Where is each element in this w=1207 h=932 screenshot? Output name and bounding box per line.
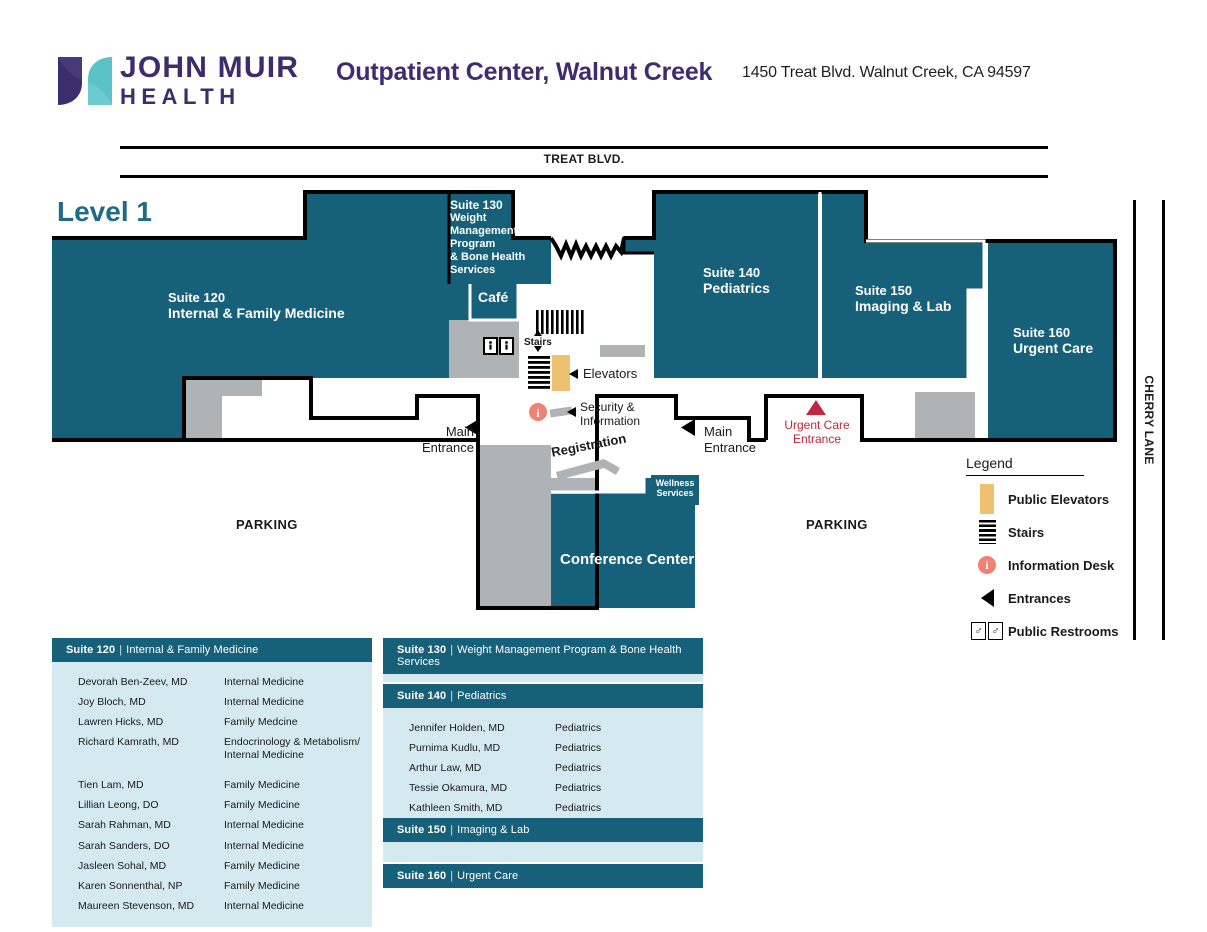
entrances-icon (966, 589, 1008, 607)
page-header: JOHN MUIR HEALTH Outpatient Center, Waln… (0, 0, 1207, 130)
suite-140-map-label: Suite 140 Pediatrics (703, 265, 770, 297)
legend-label-entrances: Entrances (1008, 591, 1071, 606)
suite-140-number: Suite 140 (703, 265, 770, 280)
brand-wordmark: JOHN MUIR HEALTH (120, 52, 299, 110)
provider-specialty: Pediatrics (555, 782, 703, 795)
provider-specialty: Internal Medicine (224, 819, 372, 832)
provider-specialty: Internal Medicine (224, 676, 372, 689)
brand-line-2: HEALTH (120, 84, 299, 110)
main-entrance-right-label: MainEntrance (704, 424, 766, 455)
suite-130-number: Suite 130 (450, 198, 532, 212)
directory-row: Jasleen Sohal, MDFamily Medicine (52, 856, 372, 876)
directory-suite-number: Suite 130 (397, 644, 446, 656)
directory-header-suite-120: Suite 120|Internal & Family Medicine (52, 638, 372, 662)
parking-left-label: PARKING (236, 517, 298, 532)
directory-department: Imaging & Lab (457, 824, 529, 836)
street-treat-blvd: TREAT BLVD. (120, 146, 1048, 178)
brand-line-1: JOHN MUIR (120, 52, 299, 84)
cafe-map-label: Café (478, 289, 508, 306)
provider-specialty: Family Medicine (224, 880, 372, 893)
provider-name: Jasleen Sohal, MD (78, 860, 224, 873)
provider-name: Lillian Leong, DO (78, 799, 224, 812)
provider-specialty: Pediatrics (555, 742, 703, 755)
directory-panel-suite-150: Suite 150|Imaging & Lab (383, 818, 703, 862)
provider-name: Tessie Okamura, MD (409, 782, 555, 795)
directory-header-suite-140: Suite 140|Pediatrics (383, 684, 703, 708)
registration-counter (556, 459, 620, 480)
directory-body-suite-150 (383, 842, 703, 862)
directory-panel-suite-120: Suite 120|Internal & Family Medicine Dev… (52, 638, 372, 927)
suite-130-strip-shape (449, 284, 470, 320)
provider-name: Sarah Sanders, DO (78, 840, 224, 853)
provider-specialty: Internal Medicine (224, 900, 372, 913)
directory-header-suite-160: Suite 160|Urgent Care (383, 864, 703, 888)
provider-name: Arthur Law, MD (409, 762, 555, 775)
suite-160-number: Suite 160 (1013, 325, 1093, 340)
security-pointer-icon (567, 407, 576, 417)
directory-separator: | (446, 690, 457, 702)
directory-row: Tien Lam, MDFamily Medicine (52, 776, 372, 796)
parking-right-label: PARKING (806, 517, 868, 532)
suite-150-name: Imaging & Lab (855, 298, 951, 315)
public-elevators-icon (966, 484, 1008, 514)
directory-panel-suite-160: Suite 160|Urgent Care (383, 864, 703, 886)
john-muir-health-logo-icon (56, 55, 114, 107)
provider-name: Jennifer Holden, MD (409, 722, 555, 735)
directory-header-suite-130: Suite 130|Weight Management Program & Bo… (383, 638, 703, 674)
legend-item-information-desk: i Information Desk (966, 550, 1156, 580)
directory-row: Sarah Rahman, MDInternal Medicine (52, 816, 372, 836)
facility-address: 1450 Treat Blvd. Walnut Creek, CA 94597 (742, 64, 1031, 82)
page-title: Outpatient Center, Walnut Creek (336, 58, 712, 87)
urgent-care-entrance-icon (806, 400, 826, 415)
legend: Legend Public Elevators Stairs i Informa… (966, 455, 1156, 649)
information-desk-glyph: i (536, 406, 540, 420)
suite-150-number: Suite 150 (855, 283, 951, 298)
provider-specialty: Family Medicine (224, 779, 372, 792)
suite-160-name: Urgent Care (1013, 340, 1093, 357)
legend-divider (966, 475, 1084, 476)
provider-specialty: Pediatrics (555, 722, 703, 735)
service-area-lobby-west (478, 445, 551, 608)
legend-item-stairs: Stairs (966, 517, 1156, 547)
directory-separator: | (115, 644, 126, 656)
public-restrooms-icon (484, 338, 513, 354)
directory-header-suite-150: Suite 150|Imaging & Lab (383, 818, 703, 842)
provider-specialty: Internal Medicine (224, 696, 372, 709)
provider-specialty: Family Medcine (224, 716, 372, 729)
elevators-map-label: Elevators (583, 366, 637, 381)
directory-separator: | (446, 644, 457, 656)
service-area-sw (184, 378, 262, 440)
directory-row: Sarah Sanders, DOInternal Medicine (52, 836, 372, 856)
security-information-map-label: Security &Information (580, 400, 640, 429)
legend-label-public-elevators: Public Elevators (1008, 492, 1109, 507)
suite-130-name: WeightManagementProgram& Bone HealthServ… (450, 212, 532, 277)
directory-row: Purnima Kudlu, MDPediatrics (383, 738, 703, 758)
urgent-care-entrance-label: Urgent CareEntrance (776, 418, 858, 447)
street-cherry-lane-label: CHERRY LANE (1142, 375, 1156, 464)
provider-name: Sarah Rahman, MD (78, 819, 224, 832)
directory-department: Pediatrics (457, 690, 506, 702)
stairs-map-label: Stairs (524, 337, 552, 349)
provider-name: Tien Lam, MD (78, 779, 224, 792)
directory-body-suite-140: Jennifer Holden, MDPediatricsPurnima Kud… (383, 708, 703, 829)
directory-row: Kathleen Smith, MDPediatrics (383, 799, 703, 819)
provider-name: Richard Kamrath, MD (78, 736, 224, 762)
directory-department: Urgent Care (457, 870, 518, 882)
directory-row: Richard Kamrath, MDEndocrinology & Metab… (52, 732, 372, 765)
legend-title: Legend (966, 455, 1156, 475)
public-restrooms-icon: ♂♂ (966, 622, 1008, 640)
provider-specialty: Family Medicine (224, 799, 372, 812)
provider-name: Devorah Ben-Zeev, MD (78, 676, 224, 689)
legend-item-public-restrooms: ♂♂ Public Restrooms (966, 616, 1156, 646)
legend-label-information-desk: Information Desk (1008, 558, 1114, 573)
suite-120-number: Suite 120 (168, 290, 345, 305)
suite-120-name: Internal & Family Medicine (168, 305, 345, 322)
provider-name: Maureen Stevenson, MD (78, 900, 224, 913)
service-area-pediatrics-bar (600, 345, 645, 357)
public-elevators-icon (552, 355, 570, 391)
wellness-services-map-label: WellnessServices (653, 478, 697, 499)
directory-panel-suite-140: Suite 140|Pediatrics Jennifer Holden, MD… (383, 684, 703, 829)
suite-160-map-label: Suite 160 Urgent Care (1013, 325, 1093, 357)
suite-150-map-label: Suite 150 Imaging & Lab (855, 283, 951, 315)
provider-specialty: Internal Medicine (224, 840, 372, 853)
legend-item-entrances: Entrances (966, 583, 1156, 613)
directory-row: Karen Sonnenthal, NPFamily Medicine (52, 876, 372, 896)
legend-label-stairs: Stairs (1008, 525, 1044, 540)
directory-row: Tessie Okamura, MDPediatrics (383, 778, 703, 798)
provider-name: Purnima Kudlu, MD (409, 742, 555, 755)
street-treat-blvd-label: TREAT BLVD. (120, 152, 1048, 166)
registration-map-label: Registration (550, 431, 627, 461)
directory-suite-number: Suite 120 (66, 644, 115, 656)
suite-130-map-label: Suite 130 WeightManagementProgram& Bone … (450, 198, 532, 277)
directory-row: Lillian Leong, DOFamily Medicine (52, 796, 372, 816)
directory-body-suite-120: Devorah Ben-Zeev, MDInternal MedicineJoy… (52, 662, 372, 927)
suite-120-map-label: Suite 120 Internal & Family Medicine (168, 290, 345, 322)
provider-name: Karen Sonnenthal, NP (78, 880, 224, 893)
directory-row-gap (52, 766, 372, 776)
information-desk-icon: i (966, 556, 1008, 574)
directory-suite-number: Suite 160 (397, 870, 446, 882)
directory-department: Internal & Family Medicine (126, 644, 258, 656)
stairs-icon (966, 520, 1008, 544)
directory-separator: | (446, 824, 457, 836)
directory-row: Lawren Hicks, MDFamily Medcine (52, 712, 372, 732)
main-entrance-right-icon (681, 419, 695, 436)
provider-specialty: Pediatrics (555, 762, 703, 775)
suite-140-name: Pediatrics (703, 280, 770, 297)
provider-specialty: Pediatrics (555, 802, 703, 815)
information-desk-counter (550, 407, 573, 418)
directory-row: Devorah Ben-Zeev, MDInternal Medicine (52, 672, 372, 692)
service-area-restrooms (449, 320, 519, 378)
legend-label-public-restrooms: Public Restrooms (1008, 624, 1119, 639)
directory-suite-number: Suite 150 (397, 824, 446, 836)
information-desk-icon (529, 403, 547, 421)
directory-row: Jennifer Holden, MDPediatrics (383, 718, 703, 738)
conference-center-outline (551, 478, 644, 492)
directory-row: Arthur Law, MDPediatrics (383, 758, 703, 778)
level-title: Level 1 (57, 196, 152, 228)
suite-140-notch-outline (624, 238, 654, 253)
directory-panel-suite-130: Suite 130|Weight Management Program & Bo… (383, 638, 703, 682)
stairs-lower-icon (528, 356, 550, 389)
provider-name: Kathleen Smith, MD (409, 802, 555, 815)
provider-specialty: Endocrinology & Metabolism/ Internal Med… (224, 736, 372, 762)
directory-separator: | (446, 870, 457, 882)
provider-name: Lawren Hicks, MD (78, 716, 224, 729)
conference-center-map-label: Conference Center (560, 551, 694, 569)
provider-name: Joy Bloch, MD (78, 696, 224, 709)
main-entrance-left-label: MainEntrance (414, 424, 474, 455)
directory-row: Joy Bloch, MDInternal Medicine (52, 692, 372, 712)
directory-row: Maureen Stevenson, MDInternal Medicine (52, 896, 372, 916)
directory-suite-number: Suite 140 (397, 690, 446, 702)
elevators-pointer-icon (569, 369, 578, 379)
legend-item-public-elevators: Public Elevators (966, 484, 1156, 514)
service-area-east (915, 392, 975, 440)
service-area-lobby-center (551, 478, 597, 494)
provider-specialty: Family Medicine (224, 860, 372, 873)
